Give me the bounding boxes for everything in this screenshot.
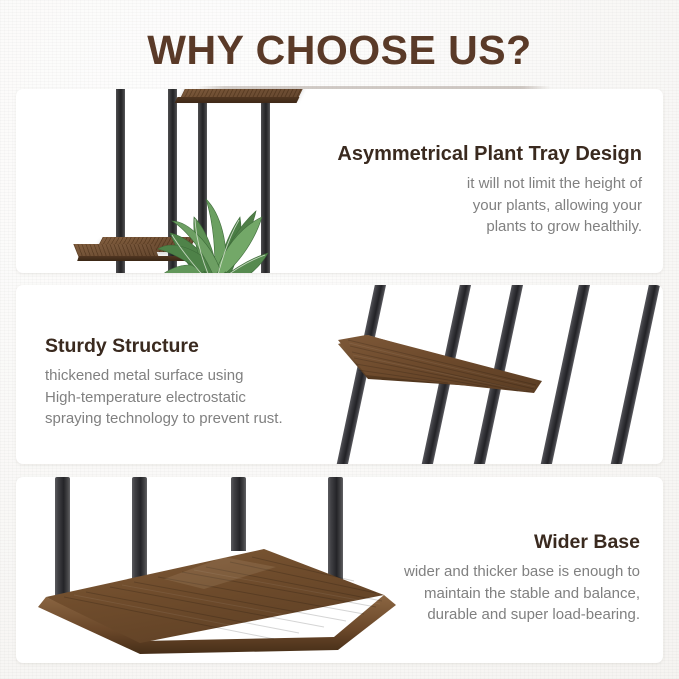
panel-body-line: spraying technology to prevent rust. — [45, 408, 283, 430]
panel-text-block: Sturdy Structure thickened metal surface… — [45, 333, 283, 430]
panel-text-block: Wider Base wider and thicker base is eno… — [404, 529, 640, 626]
metal-bar — [538, 285, 592, 464]
panel-body-line: durable and super load-bearing. — [404, 604, 640, 626]
panel-body: thickened metal surface using High-tempe… — [45, 365, 283, 430]
wooden-shelf-top-edge — [175, 97, 300, 103]
infographic-root: WHY CHOOSE US? — [0, 0, 679, 679]
panel-body-line: thickened metal surface using — [45, 365, 283, 387]
panel-body: wider and thicker base is enough to main… — [404, 561, 640, 626]
panel-body-line: High-temperature electrostatic — [45, 387, 283, 409]
plant-leaves — [144, 177, 284, 273]
wooden-shelf-angled — [338, 335, 546, 401]
panel-body-line: your plants, allowing your — [337, 195, 642, 217]
product-image-wide-base — [16, 477, 416, 663]
feature-panel-wider-base: Wider Base wider and thicker base is eno… — [16, 477, 663, 663]
panel-text-block: Asymmetrical Plant Tray Design it will n… — [337, 141, 642, 238]
panel-body-line: it will not limit the height of — [337, 173, 642, 195]
panel-body: it will not limit the height of your pla… — [337, 173, 642, 238]
panel-body-line: plants to grow healthily. — [337, 216, 642, 238]
product-image-plant-stand — [16, 89, 346, 273]
metal-bar — [608, 285, 662, 464]
title-zone: WHY CHOOSE US? — [0, 26, 679, 86]
panel-body-line: maintain the stable and balance, — [404, 583, 640, 605]
page-title: WHY CHOOSE US? — [147, 26, 531, 74]
feature-panel-sturdy-structure: Sturdy Structure thickened metal surface… — [16, 285, 663, 464]
panel-heading: Asymmetrical Plant Tray Design — [337, 141, 642, 167]
wooden-base-panel — [24, 533, 414, 658]
panel-heading: Wider Base — [404, 529, 640, 555]
feature-panel-asymmetrical-plant-tray-design: Asymmetrical Plant Tray Design it will n… — [16, 89, 663, 273]
product-image-metal-frame — [318, 285, 663, 464]
panel-heading: Sturdy Structure — [45, 333, 283, 359]
panel-body-line: wider and thicker base is enough to — [404, 561, 640, 583]
